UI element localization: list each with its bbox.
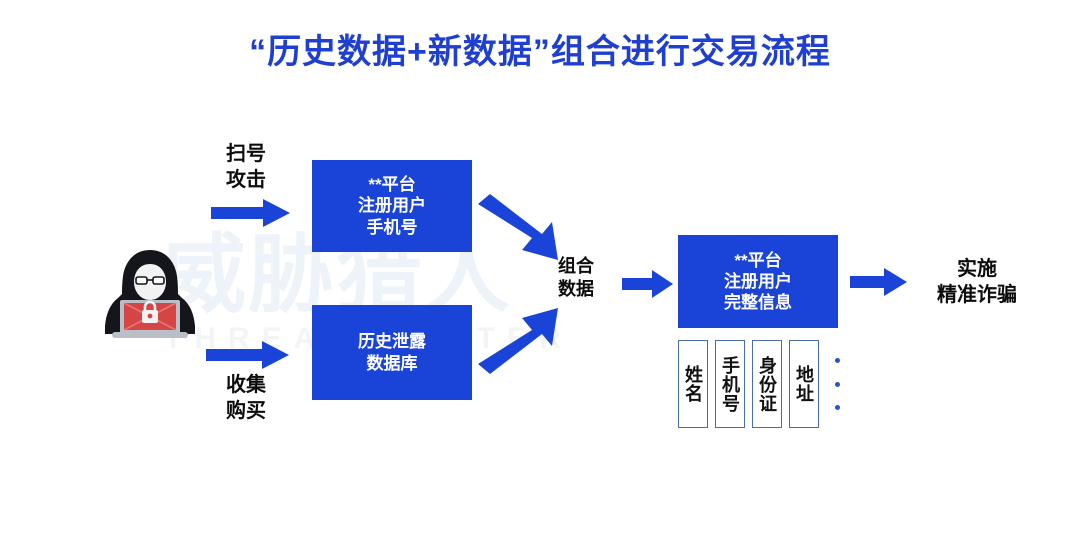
arrow-full-to-fraud-icon <box>850 268 908 296</box>
box-phone-line2: 注册用户 <box>358 195 426 216</box>
page-title: “历史数据+新数据”组合进行交易流程 <box>0 24 1080 73</box>
hacker-icon <box>98 242 202 346</box>
label-combine-line1: 组合 <box>546 255 606 278</box>
arrow-collect-to-leak-icon <box>206 340 290 370</box>
field-chip-address-label: 地址 <box>795 365 813 403</box>
ellipsis-dot <box>835 405 840 410</box>
label-collect-line1: 收集 <box>203 372 289 398</box>
vertical-ellipsis-icon <box>826 340 842 428</box>
field-chip-phone-label: 手机号 <box>721 356 739 413</box>
label-fraud-line1: 实施 <box>912 256 1042 282</box>
label-combined-data: 组合 数据 <box>546 255 606 302</box>
box-leak-line2: 数据库 <box>367 353 418 374</box>
box-phone-line1: **平台 <box>368 174 415 195</box>
arrow-leak-to-combine-icon <box>476 302 568 374</box>
box-phone-line3: 手机号 <box>367 217 418 238</box>
label-precision-fraud: 实施 精准诈骗 <box>912 256 1042 308</box>
field-chip-phone[interactable]: 手机号 <box>715 340 745 428</box>
field-chip-id-card[interactable]: 身份证 <box>752 340 782 428</box>
label-collect-line2: 购买 <box>203 398 289 424</box>
box-leak-line1: 历史泄露 <box>358 331 426 352</box>
label-scan-attack: 扫号 攻击 <box>203 141 289 193</box>
label-scan-line2: 攻击 <box>203 167 289 193</box>
field-chip-list: 姓名 手机号 身份证 地址 <box>678 340 842 430</box>
box-platform-registered-full-info[interactable]: **平台 注册用户 完整信息 <box>678 235 838 328</box>
label-collect-purchase: 收集 购买 <box>203 372 289 424</box>
field-chip-address[interactable]: 地址 <box>789 340 819 428</box>
arrow-combine-to-full-icon <box>622 270 674 298</box>
label-scan-line1: 扫号 <box>203 141 289 167</box>
box-full-line2: 注册用户 <box>724 271 792 292</box>
box-platform-registered-phone[interactable]: **平台 注册用户 手机号 <box>312 160 472 252</box>
box-full-line3: 完整信息 <box>724 292 792 313</box>
ellipsis-dot <box>835 382 840 387</box>
box-full-line1: **平台 <box>734 250 781 271</box>
flowchart-canvas: “历史数据+新数据”组合进行交易流程 威胁猎人 THREAT HUNTER 扫号… <box>0 0 1080 550</box>
box-historical-leak-database[interactable]: 历史泄露 数据库 <box>312 305 472 400</box>
field-chip-name-label: 姓名 <box>684 365 702 403</box>
ellipsis-dot <box>835 358 840 363</box>
label-combine-line2: 数据 <box>546 278 606 301</box>
arrow-scan-to-phone-icon <box>211 198 291 228</box>
field-chip-name[interactable]: 姓名 <box>678 340 708 428</box>
field-chip-id-card-label: 身份证 <box>758 356 776 413</box>
label-fraud-line2: 精准诈骗 <box>912 282 1042 308</box>
